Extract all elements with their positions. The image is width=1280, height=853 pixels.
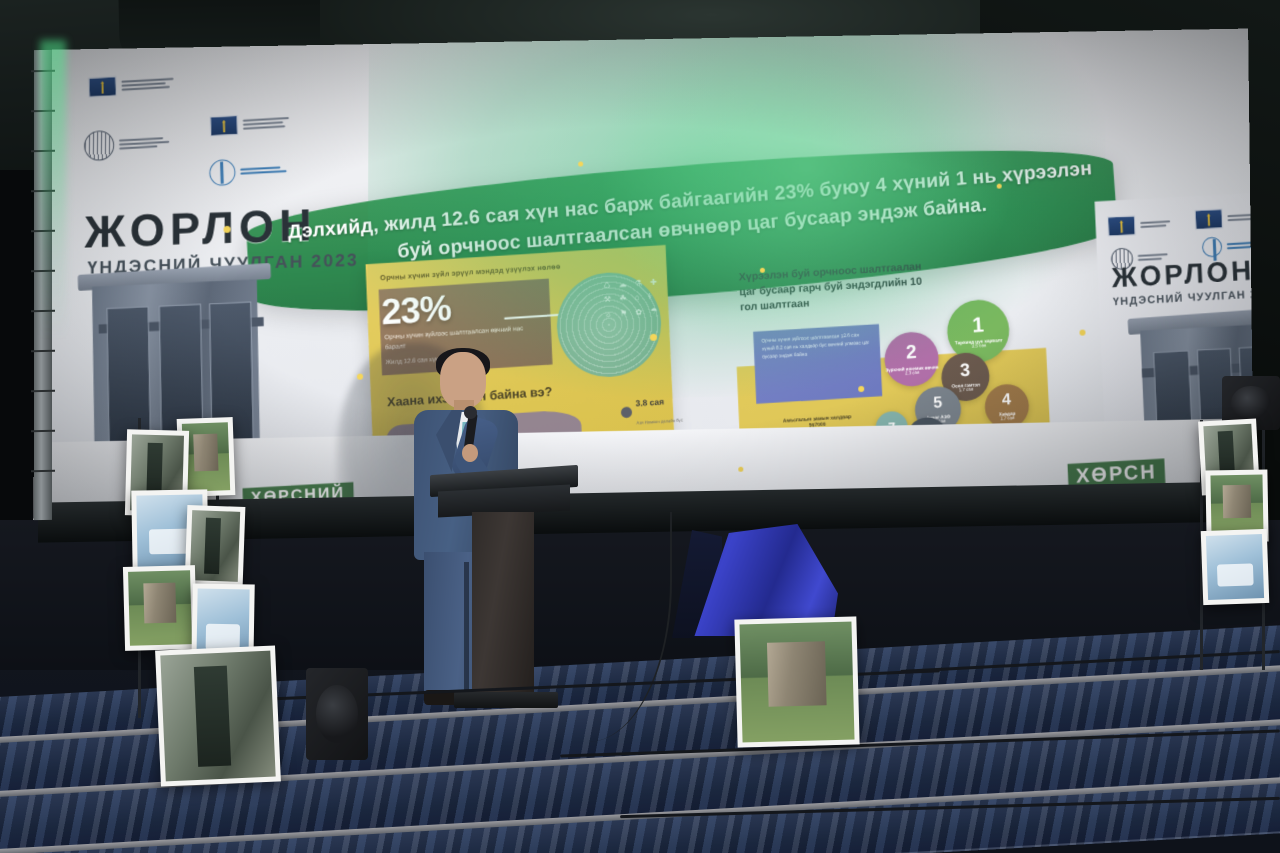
logo-text-lines-3 — [119, 137, 169, 150]
photo-weathered-outhouse — [160, 651, 275, 782]
logo-row-center — [84, 127, 170, 162]
photo-blue-toilet — [1206, 534, 1264, 600]
government-emblem-icon — [88, 76, 117, 97]
photo-outhouse-forest — [739, 622, 854, 743]
photo-outhouse-forest — [128, 570, 192, 646]
photo-outhouse-forest — [182, 422, 230, 492]
circle-icon-cluster: ♺ ☁ ⚗ ✚⚒ ☘ ⌂ ⚕☼ ⚑ ✿ ☂ — [603, 275, 665, 371]
podium-column — [472, 512, 534, 698]
photo-board — [123, 565, 197, 651]
bubble-card-note: Орчны хүчин зүйлээс шалтгаалсан 12.6 сая… — [753, 324, 882, 404]
speaker-hand — [462, 444, 478, 462]
podium-base — [454, 692, 558, 708]
logo-text-lines-4 — [240, 166, 286, 175]
logo-text-lines — [1228, 214, 1254, 222]
legend-item: 3.8 сая Ази Номхон далайн бүс — [620, 388, 718, 430]
stage-monitor-speaker — [306, 668, 368, 760]
green-stage-light — [40, 40, 66, 340]
logo-row-ministry — [210, 112, 290, 136]
who-logo-icon — [209, 159, 236, 186]
logo-text-lines — [1140, 220, 1170, 228]
photograph-scene: ЖОРЛОН ҮНДЭСНИЙ ЧУУЛГАН 2023 Дэлхийд, жи… — [0, 0, 1280, 853]
panel-title: ЖОРЛОН — [1111, 255, 1254, 295]
microphone-head — [464, 406, 477, 419]
logo-text-lines-2 — [243, 117, 289, 130]
photo-board-large — [734, 616, 859, 747]
panel-logo-row-1 — [1107, 213, 1170, 236]
logo-text-lines — [1227, 242, 1254, 250]
logo-row-top — [88, 73, 174, 98]
who-logo-icon — [1202, 237, 1223, 258]
slide-title: ЖОРЛОН — [84, 199, 316, 259]
national-center-seal-icon — [84, 130, 115, 162]
government-emblem-icon — [1107, 215, 1136, 236]
photo-board-large — [155, 645, 281, 786]
panel-logo-row-who — [1202, 235, 1254, 258]
logo-text-lines — [121, 78, 173, 91]
legend-text: 3.8 сая Ази Номхон далайн бүс — [635, 390, 683, 429]
photo-old-outhouse — [190, 510, 240, 582]
legend-dot-icon — [621, 406, 633, 418]
podium — [448, 470, 560, 718]
photo-outhouse-forest — [1210, 475, 1263, 538]
ministry-emblem-icon — [210, 115, 239, 136]
ministry-emblem-icon — [1194, 209, 1223, 230]
logo-row-who — [209, 156, 287, 186]
photo-board — [1201, 529, 1270, 605]
panel-logo-row-2 — [1194, 207, 1253, 230]
